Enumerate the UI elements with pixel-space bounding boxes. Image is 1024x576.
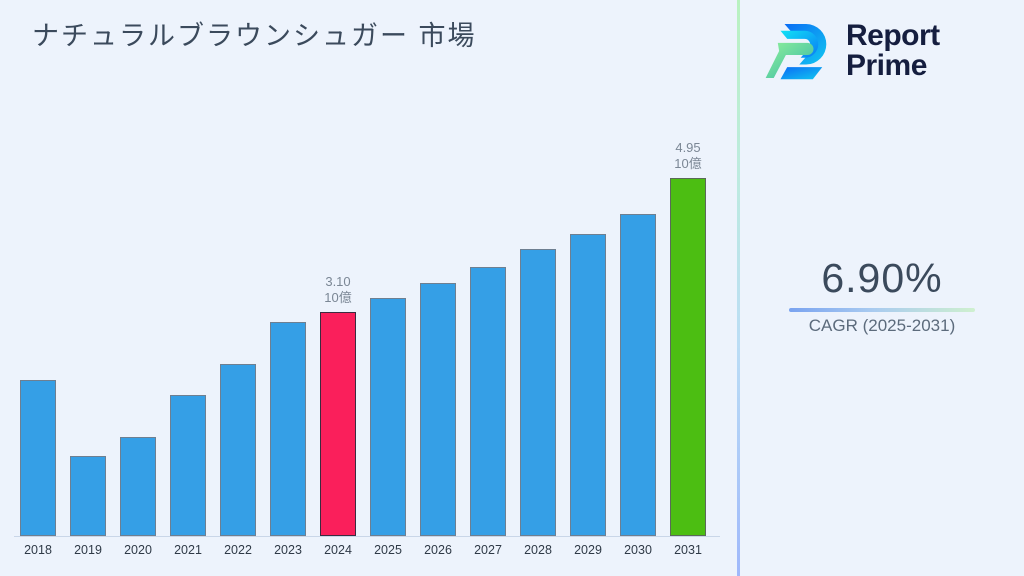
bar-2028[interactable] [520, 249, 556, 536]
report-prime-logo-icon [764, 20, 832, 82]
bar-2020[interactable] [120, 437, 156, 536]
bar-value-unit-2031: 10億 [652, 156, 724, 172]
brand-name: Report Prime [846, 21, 940, 81]
chart-panel: ナチュラルブラウンシュガー 市場 20182019202020212022202… [0, 0, 738, 576]
brand-panel: Report Prime 6.90% CAGR (2025-2031) [740, 0, 1024, 576]
bar-2019[interactable] [70, 456, 106, 536]
bar-value-label-2031: 4.9510億 [652, 140, 724, 172]
cagr-divider-rule [789, 308, 975, 312]
x-axis-baseline [14, 536, 720, 537]
bar-2025[interactable] [370, 298, 406, 536]
bar-value-number-2024: 3.10 [302, 274, 374, 290]
bar-2029[interactable] [570, 234, 606, 536]
bar-2030[interactable] [620, 214, 656, 536]
bar-value-label-2024: 3.1010億 [302, 274, 374, 306]
bar-value-number-2031: 4.95 [652, 140, 724, 156]
bar-2031[interactable] [670, 178, 706, 536]
brand-name-line1: Report [846, 21, 940, 51]
x-axis-tick-2031: 2031 [652, 543, 724, 557]
cagr-value: 6.90% [740, 255, 1024, 302]
bar-2026[interactable] [420, 283, 456, 536]
bar-2024[interactable] [320, 312, 356, 536]
infographic-root: ナチュラルブラウンシュガー 市場 20182019202020212022202… [0, 0, 1024, 576]
brand-name-line2: Prime [846, 51, 940, 81]
cagr-caption: CAGR (2025-2031) [740, 316, 1024, 336]
bar-2023[interactable] [270, 322, 306, 536]
cagr-block: 6.90% CAGR (2025-2031) [740, 255, 1024, 336]
bar-chart-plot-area: 2018201920202021202220233.1010億202420252… [0, 0, 738, 576]
bar-value-unit-2024: 10億 [302, 290, 374, 306]
bar-2022[interactable] [220, 364, 256, 536]
bar-2027[interactable] [470, 267, 506, 536]
bar-2021[interactable] [170, 395, 206, 536]
bar-2018[interactable] [20, 380, 56, 536]
brand-logo: Report Prime [764, 14, 1002, 88]
